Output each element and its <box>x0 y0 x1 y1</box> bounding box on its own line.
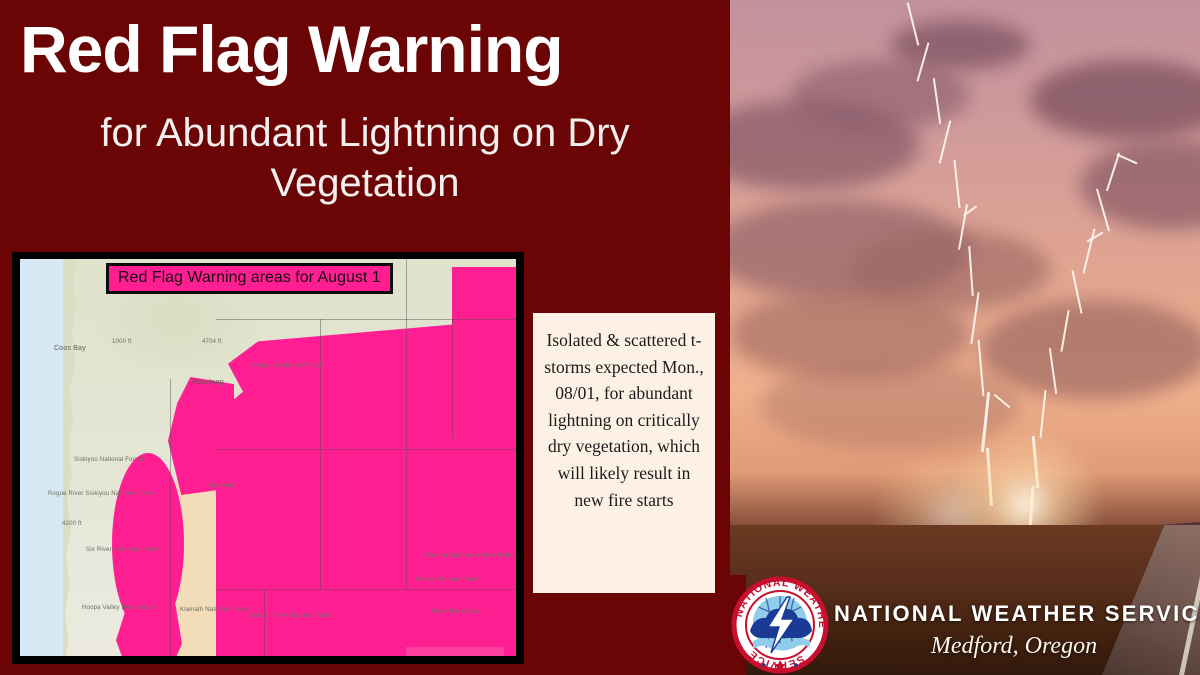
map-label: Sheldon National Wildlife Refuge <box>424 553 516 559</box>
map-frame: Coos Bay1000 ft4704 ftRoseburgUmpqua Nat… <box>12 252 524 664</box>
map-label: 1000 ft <box>112 339 132 345</box>
nws-office-name: Medford, Oregon <box>834 633 1194 660</box>
map-label: 4704 ft <box>202 339 222 345</box>
county-line <box>320 319 321 589</box>
left-panel: Red Flag Warning for Abundant Lightning … <box>0 0 730 675</box>
page-subtitle: for Abundant Lightning on Dry Vegetation <box>20 108 710 208</box>
map-label: Modoc National Forest <box>416 577 481 583</box>
warning-area-map: Coos Bay1000 ft4704 ftRoseburgUmpqua Nat… <box>20 259 516 656</box>
nws-seal-logo: NATIONAL WEATHER SERVICE <box>730 575 830 675</box>
map-label: 4200 ft <box>62 521 82 527</box>
map-label: Six Rivers National Forest <box>86 547 161 553</box>
nws-agency-name: NATIONAL WEATHER SERVICE <box>834 601 1194 627</box>
nws-branding: NATIONAL WEATHER SERVICE NATIONAL WEATHE… <box>730 575 1200 675</box>
county-line <box>216 449 516 450</box>
county-line <box>170 379 171 656</box>
county-line <box>264 589 265 656</box>
forecast-note-panel: Isolated & scattered t-storms expected M… <box>533 313 715 593</box>
warning-polygon-central-south <box>216 589 516 656</box>
warning-polygon-east-mid <box>406 647 504 656</box>
map-label: Roseburg <box>192 379 224 386</box>
county-line <box>452 319 453 439</box>
graphic-canvas: Red Flag Warning for Abundant Lightning … <box>0 0 1200 675</box>
county-line <box>406 259 407 589</box>
map-label: Coos Bay <box>54 345 86 352</box>
map-caption: Red Flag Warning areas for August 1 <box>106 263 393 294</box>
map-label: Klamath National Forest <box>180 607 249 613</box>
map-label: Shasta Trinity National Forest <box>248 613 333 619</box>
county-line <box>216 589 516 590</box>
lightning-storm-photo <box>730 0 1200 675</box>
map-label: Hoopa Valley Reservation <box>82 605 156 611</box>
map-label: Medford <box>210 483 233 489</box>
map-label: Umpqua National Forest <box>252 363 321 369</box>
page-title: Red Flag Warning <box>20 16 710 83</box>
map-label: Black Rock Desert <box>432 609 485 615</box>
county-line <box>216 319 516 320</box>
map-label: Siskiyou National Forest <box>74 457 144 463</box>
map-label: Rogue River Siskiyou National Forest <box>48 491 155 497</box>
